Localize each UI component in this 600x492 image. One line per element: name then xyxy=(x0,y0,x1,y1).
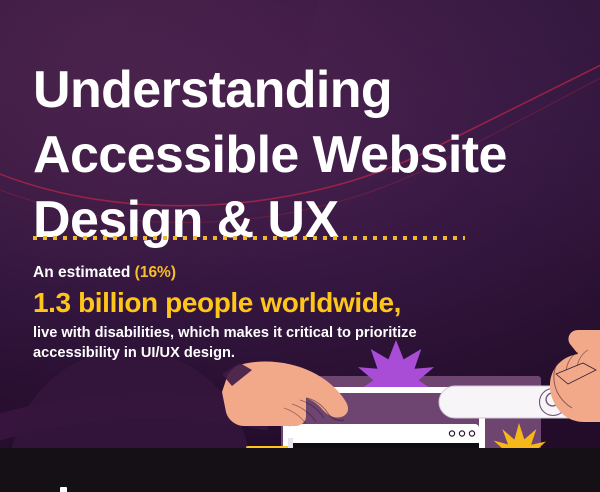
stat-headline-number: 1.3 billion people worldwide, xyxy=(33,286,503,319)
band-marker xyxy=(60,487,67,492)
dotted-divider xyxy=(33,236,465,240)
page-title: Understanding Accessible Website Design … xyxy=(33,58,578,253)
headline-line-3: Design & UX xyxy=(33,188,578,253)
bottom-black-band xyxy=(0,448,600,492)
grabbing-hand-icon xyxy=(550,330,600,422)
stat-lead-row: An estimated (16%) xyxy=(33,262,503,283)
headline-line-2: Accessible Website xyxy=(33,123,578,188)
stat-percent: (16%) xyxy=(135,264,176,281)
infographic-poster: Understanding Accessible Website Design … xyxy=(0,0,600,492)
stat-lead-text: An estimated xyxy=(33,264,130,281)
headline-line-1: Understanding xyxy=(33,58,578,123)
